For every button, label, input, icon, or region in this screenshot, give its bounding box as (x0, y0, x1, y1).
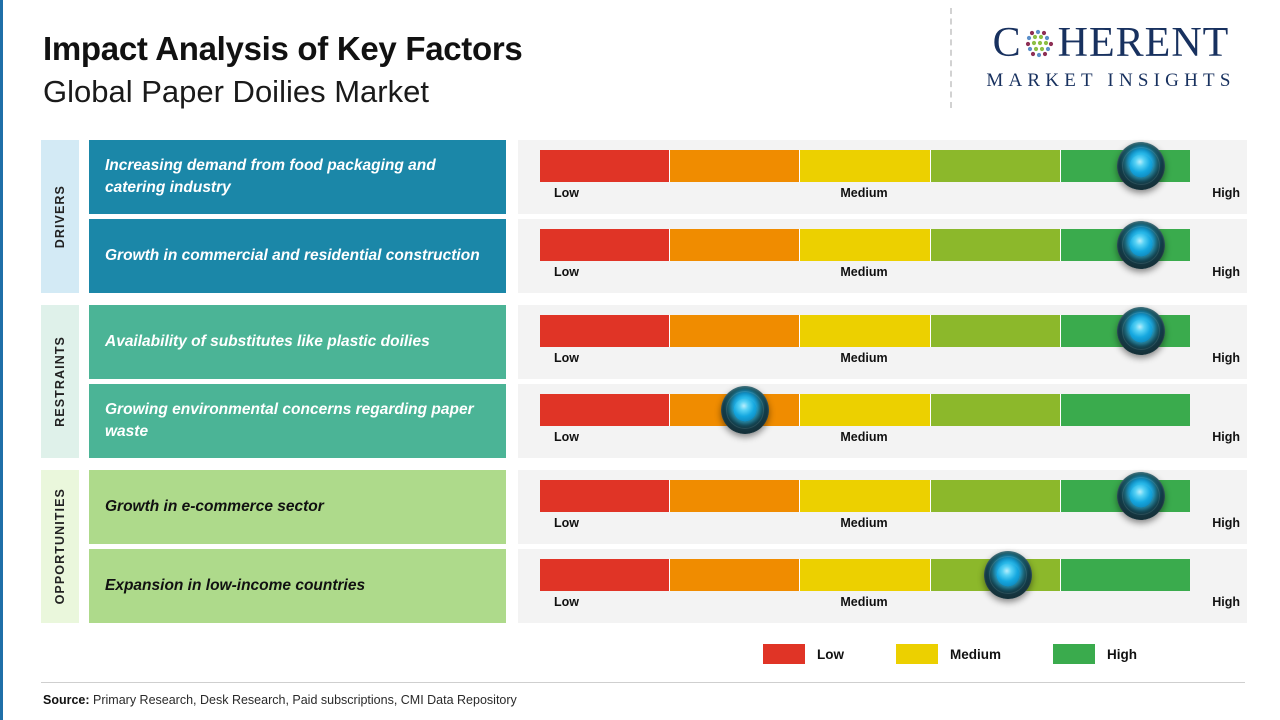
gauge-segment-2 (670, 150, 800, 182)
gauge-segment-3 (800, 480, 930, 512)
gauge-segment-1 (540, 229, 670, 261)
factor-box[interactable]: Growth in e-commerce sector (89, 470, 506, 544)
impact-marker[interactable] (984, 551, 1032, 599)
source-text: Primary Research, Desk Research, Paid su… (90, 693, 517, 707)
factor-box[interactable]: Increasing demand from food packaging an… (89, 140, 506, 214)
impact-marker[interactable] (1117, 221, 1165, 269)
legend-label: High (1107, 647, 1137, 662)
gauge-bar (540, 315, 1190, 347)
footer-divider (41, 682, 1245, 683)
impact-marker[interactable] (1117, 472, 1165, 520)
impact-marker[interactable] (721, 386, 769, 434)
legend-swatch-high (1053, 644, 1095, 664)
page-subtitle: Global Paper Doilies Market (43, 72, 522, 112)
category-label-drivers: DRIVERS (41, 140, 79, 293)
gauge-bar (540, 480, 1190, 512)
gauge-bar (540, 150, 1190, 182)
factor-text: Growing environmental concerns regarding… (105, 399, 490, 443)
gauge-segment-3 (800, 559, 930, 591)
gauge-segment-1 (540, 150, 670, 182)
impact-gauge: LowMediumHigh (518, 470, 1247, 544)
gauge-segment-4 (931, 150, 1061, 182)
gauge-segment-3 (800, 394, 930, 426)
gauge-scale-labels: LowMediumHigh (540, 595, 1250, 615)
impact-gauge: LowMediumHigh (518, 305, 1247, 379)
factor-box[interactable]: Availability of substitutes like plastic… (89, 305, 506, 379)
gauge-segment-3 (800, 229, 930, 261)
factor-text: Growth in commercial and residential con… (105, 245, 480, 267)
legend-label: Low (817, 647, 844, 662)
impact-gauge: LowMediumHigh (518, 384, 1247, 458)
logo-letter-c: C (993, 22, 1022, 64)
gauge-segment-2 (670, 229, 800, 261)
logo-word-herent: HERENT (1058, 22, 1230, 64)
gauge-label-high: High (1212, 186, 1240, 200)
source-label: Source: (43, 693, 90, 707)
gauge-segment-4 (931, 480, 1061, 512)
factor-text: Availability of substitutes like plastic… (105, 331, 430, 353)
category-label-opportunities: OPPORTUNITIES (41, 470, 79, 623)
logo-wordmark: C (961, 22, 1261, 64)
legend-swatch-medium (896, 644, 938, 664)
impact-marker[interactable] (1117, 142, 1165, 190)
legend-item-high: High (1053, 644, 1137, 664)
gauge-bar (540, 559, 1190, 591)
factor-box[interactable]: Growth in commercial and residential con… (89, 219, 506, 293)
logo: C (961, 22, 1261, 92)
impact-gauge: LowMediumHigh (518, 219, 1247, 293)
factor-text: Growth in e-commerce sector (105, 496, 324, 518)
legend-item-low: Low (763, 644, 844, 664)
gauge-scale-labels: LowMediumHigh (540, 430, 1250, 450)
category-label-restraints: RESTRAINTS (41, 305, 79, 458)
header: Impact Analysis of Key Factors Global Pa… (3, 0, 1280, 130)
gauge-label-high: High (1212, 595, 1240, 609)
gauge-segment-1 (540, 480, 670, 512)
legend-label: Medium (950, 647, 1001, 662)
gauge-segment-4 (931, 394, 1061, 426)
factor-text: Expansion in low-income countries (105, 575, 365, 597)
source-line: Source: Primary Research, Desk Research,… (43, 693, 517, 707)
gauge-segment-2 (670, 480, 800, 512)
logo-tagline: MARKET INSIGHTS (961, 70, 1261, 92)
factor-box[interactable]: Expansion in low-income countries (89, 549, 506, 623)
category-label-text: RESTRAINTS (53, 336, 67, 427)
category-label-text: DRIVERS (53, 185, 67, 248)
title-block: Impact Analysis of Key Factors Global Pa… (43, 28, 522, 113)
gauge-segment-5 (1061, 559, 1190, 591)
globe-dots-icon (1023, 26, 1057, 60)
gauge-segment-1 (540, 315, 670, 347)
gauge-segment-2 (670, 315, 800, 347)
category-label-text: OPPORTUNITIES (53, 488, 67, 604)
gauge-bar (540, 229, 1190, 261)
gauge-segment-4 (931, 315, 1061, 347)
gauge-bar (540, 394, 1190, 426)
factor-text: Increasing demand from food packaging an… (105, 155, 490, 199)
impact-matrix: DRIVERSIncreasing demand from food packa… (3, 140, 1280, 610)
gauge-label-high: High (1212, 430, 1240, 444)
page-title: Impact Analysis of Key Factors (43, 28, 522, 69)
gauge-label-high: High (1212, 516, 1240, 530)
legend-item-medium: Medium (896, 644, 1001, 664)
gauge-segment-2 (670, 559, 800, 591)
gauge-segment-4 (931, 229, 1061, 261)
gauge-segment-5 (1061, 394, 1190, 426)
gauge-label-medium: Medium (540, 430, 1250, 444)
legend-swatch-low (763, 644, 805, 664)
impact-marker[interactable] (1117, 307, 1165, 355)
legend: LowMediumHigh (763, 644, 1203, 664)
gauge-label-medium: Medium (540, 595, 1250, 609)
factor-box[interactable]: Growing environmental concerns regarding… (89, 384, 506, 458)
gauge-segment-3 (800, 150, 930, 182)
impact-gauge: LowMediumHigh (518, 549, 1247, 623)
gauge-segment-3 (800, 315, 930, 347)
gauge-segment-1 (540, 394, 670, 426)
gauge-label-high: High (1212, 265, 1240, 279)
gauge-label-high: High (1212, 351, 1240, 365)
header-dashed-divider (950, 8, 952, 108)
impact-gauge: LowMediumHigh (518, 140, 1247, 214)
gauge-segment-1 (540, 559, 670, 591)
